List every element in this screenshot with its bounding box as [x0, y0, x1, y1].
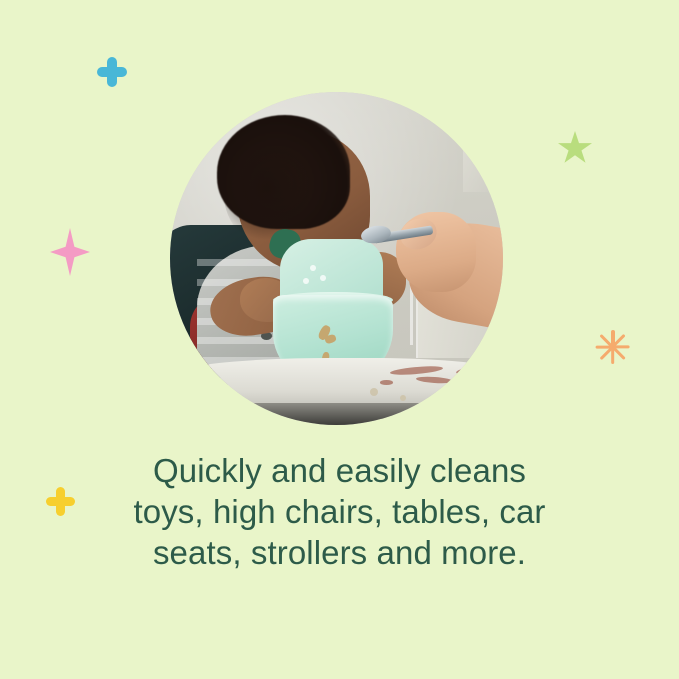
- caption-line-2: toys, high chairs, tables, car: [0, 491, 679, 532]
- tray-food-stain: [380, 380, 393, 385]
- photo-scene: [170, 92, 503, 425]
- baby-hair-highlight: [223, 132, 310, 245]
- caption-line-3: seats, strollers and more.: [0, 532, 679, 573]
- plus-icon-blue: [97, 57, 127, 87]
- tray-crumb: [400, 395, 406, 401]
- starburst-icon-orange: [596, 330, 630, 364]
- bib-speck: [320, 275, 326, 281]
- high-chair-tray-edge: [170, 403, 503, 425]
- feature-photo: [170, 92, 503, 425]
- sparkle-icon-pink: [50, 228, 90, 276]
- star-icon-green: [558, 131, 592, 165]
- feature-caption: Quickly and easily cleans toys, high cha…: [0, 450, 679, 573]
- caption-line-1: Quickly and easily cleans: [0, 450, 679, 491]
- bib-speck: [303, 278, 309, 284]
- wall-corner: [463, 119, 503, 192]
- bib-speck: [310, 265, 316, 271]
- product-feature-card: Quickly and easily cleans toys, high cha…: [0, 0, 679, 679]
